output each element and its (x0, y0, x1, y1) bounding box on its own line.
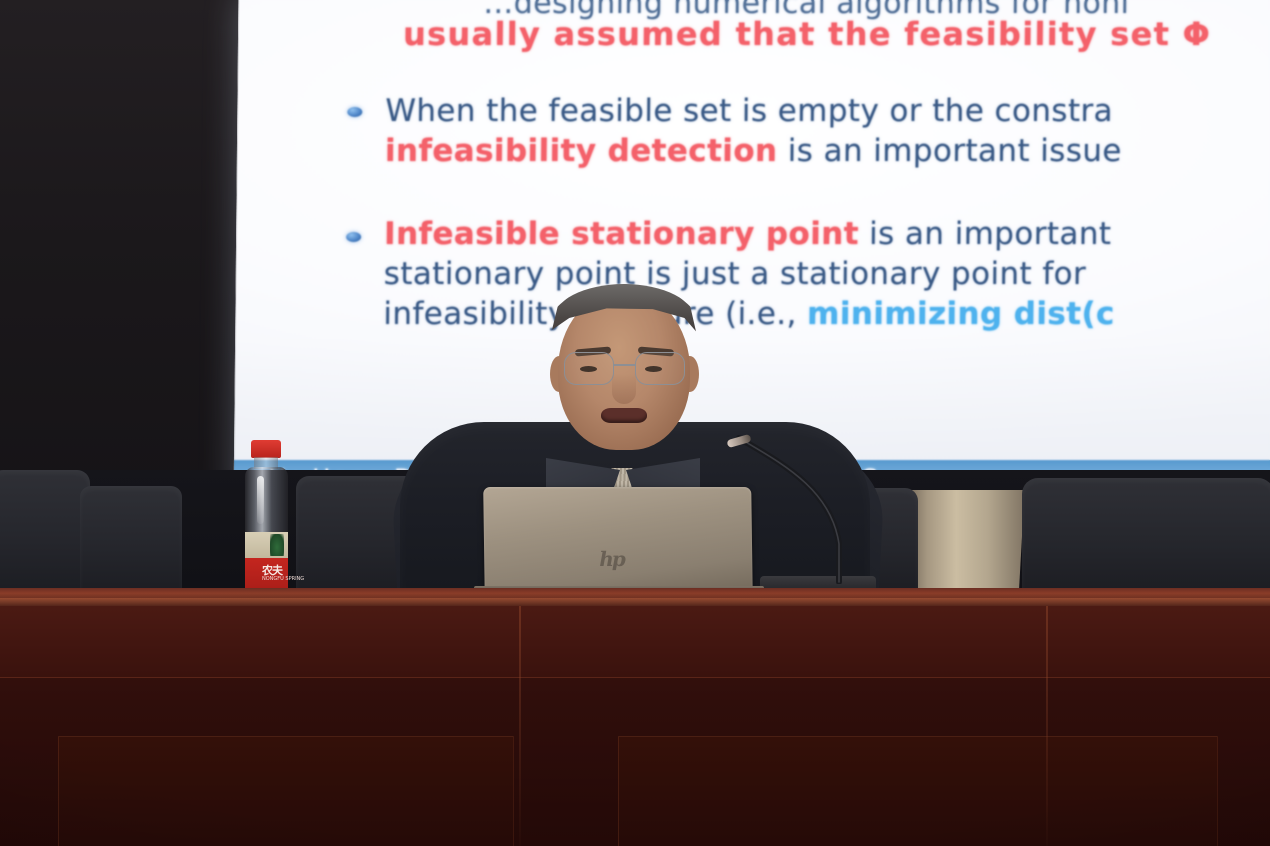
slide-bullet1-line2: infeasibility detection is an important … (385, 133, 1122, 170)
microphone-gooseneck (735, 432, 853, 584)
slide-bullet2-line1-tail: is an important (859, 216, 1112, 252)
speaker-nose (612, 374, 636, 404)
photo-scene: …designing numerical algorithms for nonl… (0, 0, 1270, 846)
chair-back (1022, 478, 1270, 600)
bottle-label-mountain-graphic (270, 534, 284, 556)
glasses-bridge (614, 364, 636, 366)
slide-bullet1-line2-tail: is an important issue (777, 133, 1122, 169)
slide-emphasis-infeasibility-detection: infeasibility detection (385, 133, 778, 169)
slide-line-top-red: usually assumed that the feasibility set… (403, 16, 1211, 54)
water-bottle: 农夫 NONGFU SPRING (240, 440, 292, 600)
bullet-marker-icon (347, 107, 362, 117)
paper-cup (905, 490, 1027, 600)
slide-bullet2-line1: Infeasible stationary point is an import… (384, 216, 1112, 253)
desk-seam (1046, 606, 1048, 846)
glasses-lens-left (564, 352, 614, 385)
desk-inset-panel (58, 736, 514, 846)
desk-inset-panel (618, 736, 1218, 846)
laptop: hp (483, 487, 753, 599)
desk-upper-band (0, 606, 1270, 678)
slide-bullet1-line1: When the feasible set is empty or the co… (385, 93, 1113, 130)
bottle-highlight (257, 476, 264, 524)
hp-logo-icon: hp (599, 547, 624, 571)
bottle-brand-en: NONGFU SPRING (262, 576, 304, 582)
chair-back (80, 486, 182, 600)
desk-seam (519, 606, 521, 846)
glasses-lens-right (635, 352, 685, 385)
chair-back (0, 470, 90, 600)
bullet-marker-icon (346, 232, 361, 242)
speaker-mouth (601, 408, 647, 423)
bottle-cap (251, 440, 281, 458)
desk-edge-highlight (0, 598, 1270, 606)
slide-emphasis-infeasible-stationary-point: Infeasible stationary point (384, 216, 859, 252)
